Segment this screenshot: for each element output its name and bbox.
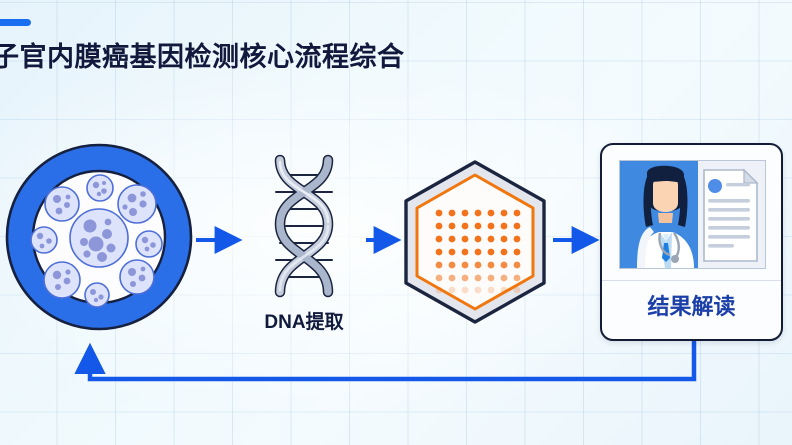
infographic-canvas: 子官内膜癌基因检测核心流程综合 — [0, 0, 792, 445]
report-document — [704, 170, 757, 261]
card-divider — [602, 280, 781, 281]
flow-step-tissue[interactable] — [4, 142, 194, 332]
dna-helix-icon — [246, 152, 362, 304]
cell-sample-icon — [4, 142, 194, 332]
hexagon-chip-icon — [400, 158, 550, 326]
flow-step-report[interactable]: 结果解读 — [600, 143, 783, 341]
page-title: 子官内膜癌基因检测核心流程综合 — [0, 35, 405, 74]
doctor-report-icon — [619, 160, 766, 269]
title-accent-bar — [0, 19, 31, 26]
flow-step-chip[interactable] — [400, 158, 550, 326]
flow-step-report-label: 结果解读 — [602, 289, 781, 321]
flow-step-dna[interactable]: DNA提取 — [246, 152, 362, 342]
flow-step-dna-label: DNA提取 — [246, 307, 362, 334]
